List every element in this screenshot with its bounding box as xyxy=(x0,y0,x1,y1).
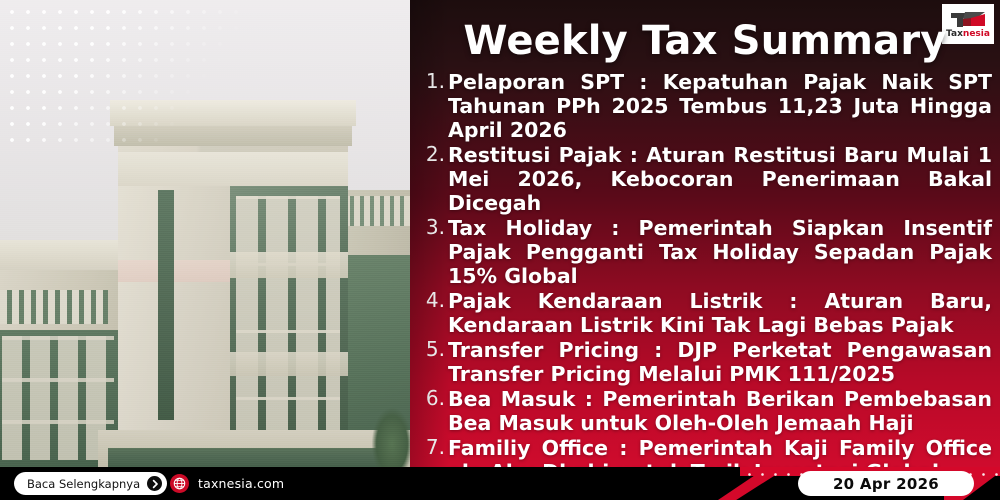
list-item[interactable]: 5. Transfer Pricing : DJP Perketat Penga… xyxy=(424,338,992,386)
list-item[interactable]: 6. Bea Masuk : Pemerintah Berikan Pembeb… xyxy=(424,387,992,435)
list-item-number: 3. xyxy=(424,216,448,239)
halftone-dot-overlay xyxy=(0,0,240,150)
list-item-text: Bea Masuk : Pemerintah Berikan Pembebasa… xyxy=(448,387,992,435)
list-item-number: 6. xyxy=(424,387,448,410)
read-more-button[interactable]: Baca Selengkapnya xyxy=(14,472,167,495)
list-item-number: 7. xyxy=(424,436,448,459)
list-item[interactable]: 3. Tax Holiday : Pemerintah Siapkan Inse… xyxy=(424,216,992,288)
summary-list: 1. Pelaporan SPT : Kepatuhan Pajak Naik … xyxy=(424,70,992,467)
footer-bar: Baca Selengkapnya taxnesia.com 20 Apr 20… xyxy=(0,467,1000,500)
list-item-number: 1. xyxy=(424,70,448,93)
list-item-text: Pajak Kendaraan Listrik : Aturan Baru, K… xyxy=(448,289,992,337)
list-item[interactable]: 7. Familiy Office : Pemerintah Kaji Fami… xyxy=(424,436,992,467)
summary-panel: Taxnesia Weekly Tax Summary 1. Pelaporan… xyxy=(410,0,1000,467)
list-item-number: 4. xyxy=(424,289,448,312)
list-item-number: 5. xyxy=(424,338,448,361)
read-more-label: Baca Selengkapnya xyxy=(27,477,140,491)
date-badge: 20 Apr 2026 xyxy=(798,471,974,496)
list-item[interactable]: 4. Pajak Kendaraan Listrik : Aturan Baru… xyxy=(424,289,992,337)
list-item-text: Restitusi Pajak : Aturan Restitusi Baru … xyxy=(448,143,992,215)
list-item[interactable]: 1. Pelaporan SPT : Kepatuhan Pajak Naik … xyxy=(424,70,992,142)
chevron-right-icon xyxy=(147,476,162,491)
page-title: Weekly Tax Summary xyxy=(410,18,1000,64)
date-label: 20 Apr 2026 xyxy=(833,475,939,493)
poster-canvas: Taxnesia Weekly Tax Summary 1. Pelaporan… xyxy=(0,0,1000,500)
list-item-text: Tax Holiday : Pemerintah Siapkan Insenti… xyxy=(448,216,992,288)
list-item-number: 2. xyxy=(424,143,448,166)
list-item-text: Pelaporan SPT : Kepatuhan Pajak Naik SPT… xyxy=(448,70,992,142)
building-photo xyxy=(0,0,410,467)
globe-icon xyxy=(170,474,189,493)
website-label[interactable]: taxnesia.com xyxy=(198,476,284,491)
list-item-text: Familiy Office : Pemerintah Kaji Family … xyxy=(448,436,992,467)
list-item-text: Transfer Pricing : DJP Perketat Pengawas… xyxy=(448,338,992,386)
list-item[interactable]: 2. Restitusi Pajak : Aturan Restitusi Ba… xyxy=(424,143,992,215)
